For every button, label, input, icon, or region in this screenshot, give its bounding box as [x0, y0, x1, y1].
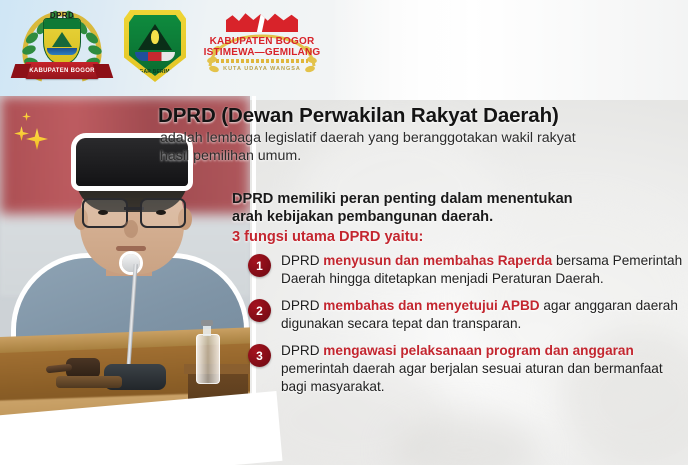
water-bottle-icon [196, 320, 218, 382]
logo-row: DPRD KABUPATEN BOGOR TEGAR BERIMAN [16, 4, 322, 96]
item-text: DPRD mengawasi pelaksanaan program dan a… [281, 342, 688, 395]
page-title: DPRD (Dewan Perwakilan Rakyat Daerah) [158, 104, 688, 128]
person-mouth [116, 246, 146, 251]
gemilang-line-1: KABUPATEN BOGOR [202, 36, 322, 47]
dprd-logo-ribbon-label: KABUPATEN BOGOR [24, 62, 100, 79]
brush-stroke-icon [226, 12, 298, 32]
item-text-highlight: menyusun dan membahas Raperda [323, 253, 552, 268]
functions-list: 1 DPRD menyusun dan membahas Raperda ber… [248, 252, 688, 405]
dprd-kabupaten-bogor-logo: DPRD KABUPATEN BOGOR [16, 4, 108, 96]
lead-line-2: arah kebijakan pembangunan daerah. [232, 208, 688, 226]
lead-red-heading: 3 fungsi utama DPRD yaitu: [232, 228, 688, 247]
list-item: 1 DPRD menyusun dan membahas Raperda ber… [248, 252, 688, 287]
infographic-poster: DPRD KABUPATEN BOGOR TEGAR BERIMAN [0, 0, 688, 465]
gemilang-divider [216, 59, 308, 63]
gemilang-line-2: ISTIMEWA—GEMILANG [202, 47, 322, 58]
item-number-badge: 3 [248, 344, 271, 367]
sparkle-icon-tiny [22, 112, 31, 121]
person-nose [124, 220, 138, 238]
item-text-pre: DPRD [281, 298, 323, 313]
coat-of-arms-caption: TEGAR BERIMAN [124, 69, 186, 75]
item-text-pre: DPRD [281, 343, 323, 358]
gemilang-line-3: KUTA UDAYA WANGSA [202, 66, 322, 72]
lead-line-1: DPRD memiliki peran penting dalam menent… [232, 190, 688, 208]
list-item: 2 DPRD membahas dan menyetujui APBD agar… [248, 297, 688, 332]
item-text-pre: DPRD [281, 253, 323, 268]
item-text-highlight: membahas dan menyetujui APBD [323, 298, 539, 313]
subtitle-line-1: adalah lembaga legislatif daerah yang be… [160, 130, 688, 148]
item-number-badge: 1 [248, 254, 271, 277]
sparkle-icon-large [26, 128, 48, 150]
item-text-post: pemerintah daerah agar berjalan sesuai a… [281, 361, 663, 394]
person-eye-right [156, 210, 166, 215]
person-eye-left [98, 210, 108, 215]
gemilang-text-block: KABUPATEN BOGOR ISTIMEWA—GEMILANG KUTA U… [202, 36, 322, 72]
kabupaten-bogor-coat-of-arms: TEGAR BERIMAN [124, 10, 186, 82]
kabupaten-bogor-istimewa-gemilang-logo: KABUPATEN BOGOR ISTIMEWA—GEMILANG KUTA U… [202, 12, 322, 82]
dprd-logo-top-label: DPRD [16, 11, 108, 20]
list-item: 3 DPRD mengawasi pelaksanaan program dan… [248, 342, 688, 395]
header-sheen-secondary [330, 0, 450, 100]
item-number-badge: 2 [248, 299, 271, 322]
item-text: DPRD membahas dan menyetujui APBD agar a… [281, 297, 688, 332]
lead-text-block: DPRD memiliki peran penting dalam menent… [232, 190, 688, 247]
item-text-highlight: mengawasi pelaksanaan program dan anggar… [323, 343, 634, 358]
dprd-shield-icon [43, 18, 81, 64]
item-text: DPRD menyusun dan membahas Raperda bersa… [281, 252, 688, 287]
intro-text-block: DPRD (Dewan Perwakilan Rakyat Daerah) ad… [158, 104, 688, 165]
gavel-icon [50, 358, 120, 380]
subtitle-line-2: hasil pemilihan umum. [160, 148, 688, 166]
